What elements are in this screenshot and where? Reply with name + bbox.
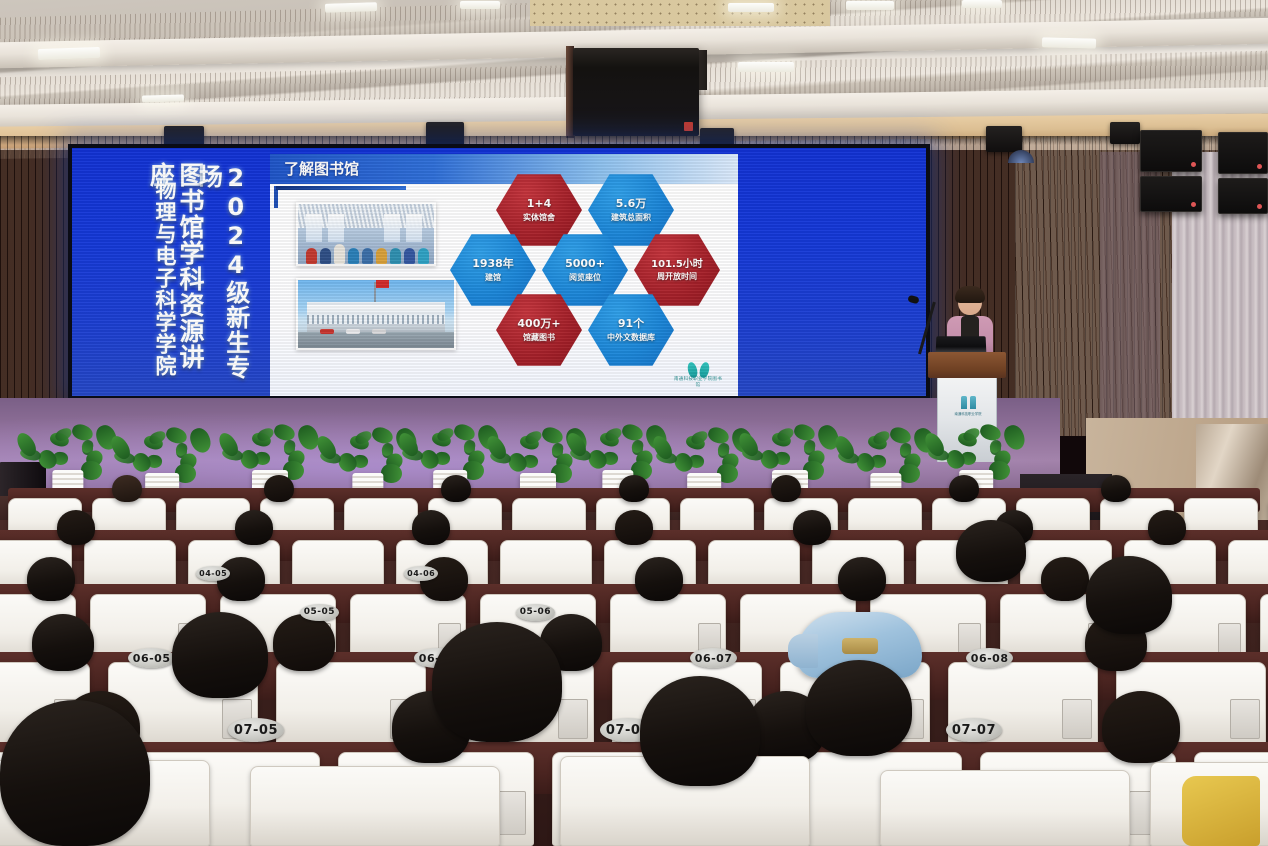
audience-member-head — [412, 510, 450, 545]
plant-foliage — [330, 421, 406, 479]
hex-label: 建馆 — [485, 273, 501, 282]
lectern-emblem: 南通科技职业学院 — [951, 394, 985, 416]
audience-member-head — [1086, 556, 1172, 634]
audience-member-head — [771, 475, 801, 503]
photo-flag — [376, 280, 389, 288]
line-array-speaker — [1218, 132, 1268, 174]
audience-member-head — [1102, 691, 1180, 763]
slide-title-underline — [276, 186, 406, 190]
perforated-acoustic-panel — [530, 0, 830, 26]
ceiling-panel-light — [846, 1, 894, 10]
plant-foliage — [938, 418, 1014, 476]
line-array-speaker — [1140, 176, 1202, 212]
plant-foliage — [124, 421, 200, 479]
ceiling-projector — [573, 48, 699, 136]
audience-member-head — [441, 475, 471, 503]
plant-leaf — [452, 422, 477, 443]
yellow-bag — [1182, 776, 1260, 846]
audience-member-head — [0, 700, 150, 846]
plant-leaf — [898, 464, 920, 484]
audience-member-head — [172, 612, 268, 698]
hex-label: 建筑总面积 — [611, 213, 651, 222]
photo-vehicle — [320, 329, 334, 334]
photo-flagpole — [374, 282, 376, 304]
plant-foliage — [412, 418, 488, 476]
ceiling-panel-light — [325, 2, 377, 13]
photo-building-facade — [307, 302, 444, 332]
presentation-slide: 了解图书馆 — [270, 154, 738, 396]
capped-audience-member-head — [806, 660, 912, 756]
audience-member-head — [956, 520, 1026, 582]
library-stats-hexagon-chart: 1+4 实体馆舍 5.6万 建筑总面积 1938年 建馆 5000+ 阅览座位 — [448, 172, 728, 384]
plant-leaf — [620, 422, 645, 443]
led-banner-right-secondary: 物理与电子科学学院 — [152, 170, 176, 386]
ceiling-panel-light — [728, 3, 774, 12]
audience-member-head — [949, 475, 979, 503]
seat-number-label: 05-05 — [300, 604, 339, 621]
plant-leaf — [370, 425, 395, 446]
led-banner-right-primary: 2024级新生专场 — [194, 164, 249, 390]
plant-leaf — [888, 425, 913, 446]
ceiling-panel-light — [1042, 37, 1096, 48]
audience-member-head — [635, 557, 683, 601]
hex-label: 馆藏图书 — [523, 333, 555, 342]
folding-tablet-arm[interactable] — [1230, 699, 1260, 739]
audience-member-head — [793, 510, 831, 545]
line-array-speaker — [1218, 178, 1268, 214]
audience-member-head — [264, 475, 294, 503]
hex-value: 5.6万 — [616, 198, 647, 211]
ceiling-panel-light — [460, 1, 500, 9]
audience-member-head — [32, 614, 94, 671]
audience-member-head — [57, 510, 95, 545]
plant-leaf — [164, 425, 189, 446]
plant-leaf — [540, 425, 565, 446]
hex-label: 阅览座位 — [569, 273, 601, 282]
audience-member-head — [112, 475, 142, 503]
audience-member-head — [1101, 475, 1131, 503]
led-video-wall: 图书馆学科资源讲座 2024级新生专场 物理与电子科学学院 了解图书馆 — [68, 144, 930, 400]
plant-foliage — [848, 421, 924, 479]
ceiling-panel-light — [962, 0, 1002, 8]
ceiling-panel-light — [142, 94, 184, 102]
plant-leaf — [792, 422, 817, 443]
plant-leaf — [706, 425, 731, 446]
photo-plaza-ground — [298, 332, 454, 348]
audience-member-head — [273, 614, 335, 671]
plant-leaf — [978, 422, 1003, 443]
photo-students — [298, 234, 434, 264]
hex-label: 实体馆舍 — [523, 213, 555, 222]
seat-number-label: 05-06 — [516, 604, 555, 621]
audience-member-head — [615, 510, 653, 545]
audience-member-head — [432, 622, 562, 742]
auditorium-photo: 图书馆学科资源讲座 2024级新生专场 物理与电子科学学院 了解图书馆 — [0, 0, 1268, 846]
seat-number-label: 07-05 — [228, 718, 284, 742]
ceiling-speaker — [1110, 122, 1140, 144]
lectern-wood-top — [928, 352, 1006, 378]
logo-text: 南通科技职业学院图书馆 — [672, 376, 724, 388]
plant-leaf — [70, 422, 95, 443]
plant-foliage — [232, 418, 308, 476]
folding-tablet-arm[interactable] — [1062, 699, 1092, 739]
lectern-emblem-text: 南通科技职业学院 — [951, 411, 985, 416]
hex-value: 400万+ — [517, 318, 560, 331]
seat-number-label: 04-05 — [196, 566, 230, 581]
hex-label: 中外文数据库 — [607, 333, 655, 342]
ceiling-speaker — [986, 126, 1022, 152]
hex-value: 91个 — [618, 318, 644, 331]
library-building-photo — [296, 278, 456, 350]
library-logo: 南通科技职业学院图书馆 — [672, 362, 724, 388]
audience-member-head — [1148, 510, 1186, 545]
led-display-surface: 图书馆学科资源讲座 2024级新生专场 物理与电子科学学院 了解图书馆 — [72, 148, 926, 396]
photo-vehicle — [372, 329, 386, 334]
hex-label: 周开放时间 — [657, 272, 697, 281]
seat-number-label: 07-07 — [946, 718, 1002, 742]
hex-value: 5000+ — [565, 258, 605, 271]
ceiling-panel-light — [738, 62, 794, 72]
slide-title: 了解图书馆 — [284, 158, 359, 179]
audience-member-head — [235, 510, 273, 545]
emblem-leaf-icon — [961, 396, 967, 409]
chair-back[interactable] — [250, 766, 500, 846]
ceiling-panel-light — [38, 47, 100, 60]
plant-foliage — [30, 418, 106, 476]
audience-member-head — [27, 557, 75, 601]
plant-foliage — [666, 421, 742, 479]
reading-room-photo — [296, 202, 436, 266]
presenter-hair — [955, 286, 985, 303]
folding-tablet-arm[interactable] — [1218, 623, 1241, 655]
photo-vehicle — [346, 329, 360, 334]
audience-member-head — [640, 676, 760, 786]
plant-leaf — [80, 461, 102, 481]
hex-value: 101.5小时 — [651, 259, 703, 271]
audience-member-head — [838, 557, 886, 601]
seat-number-label: 04-06 — [404, 566, 438, 581]
line-array-speaker — [1140, 130, 1202, 172]
plant-foliage — [500, 421, 576, 479]
plant-leaf — [380, 464, 402, 484]
audience-member-head — [619, 475, 649, 503]
ceiling-speaker — [426, 122, 464, 146]
plant-foliage — [580, 418, 656, 476]
plant-foliage — [752, 418, 828, 476]
plant-leaf — [272, 422, 297, 443]
chair-back[interactable] — [880, 770, 1130, 846]
hex-value: 1938年 — [472, 258, 514, 271]
hex-value: 1+4 — [527, 198, 552, 211]
folding-tablet-arm[interactable] — [558, 699, 588, 739]
audience-member-head — [1041, 557, 1089, 601]
emblem-leaf-icon — [970, 396, 976, 409]
